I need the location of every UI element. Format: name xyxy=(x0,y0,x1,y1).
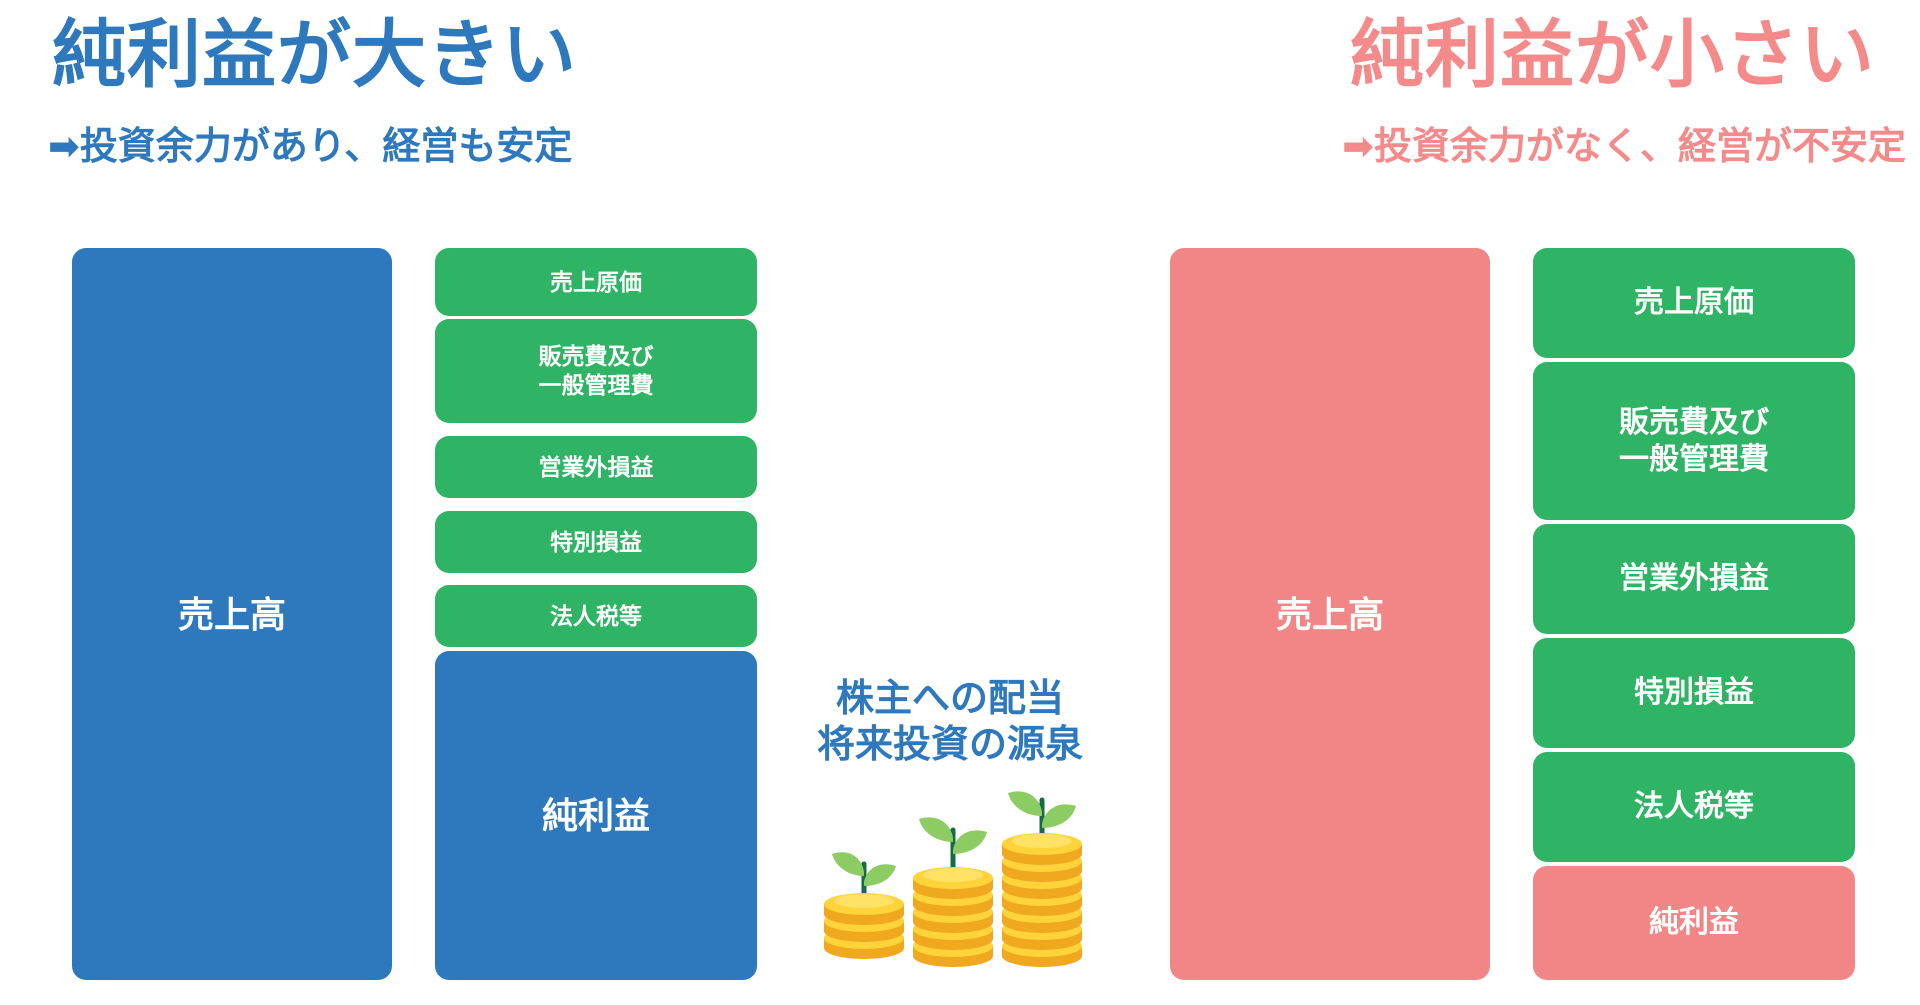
left-bar-extraordinary-label: 特別損益 xyxy=(550,528,642,557)
right-bar-corporate-tax-label: 法人税等 xyxy=(1634,788,1754,826)
right-bar-cost-of-sales: 売上原価 xyxy=(1533,248,1855,358)
left-bar-non-operating: 営業外損益 xyxy=(435,436,757,498)
right-bar-extraordinary-label: 特別損益 xyxy=(1634,674,1754,712)
left-panel-subtitle: ➡投資余力があり、経営も安定 xyxy=(48,128,572,166)
right-bar-corporate-tax: 法人税等 xyxy=(1533,752,1855,862)
right-panel-title: 純利益が小さい xyxy=(1350,18,1875,92)
left-panel-title: 純利益が大きい xyxy=(52,18,577,92)
right-bar-non-operating-label: 営業外損益 xyxy=(1619,560,1769,598)
left-bar-corporate-tax: 法人税等 xyxy=(435,585,757,647)
left-bar-net-profit: 純利益 xyxy=(435,651,757,980)
right-bar-extraordinary: 特別損益 xyxy=(1533,638,1855,748)
right-revenue-bar: 売上高 xyxy=(1170,248,1490,980)
right-revenue-label: 売上高 xyxy=(1276,592,1384,637)
right-bar-non-operating: 営業外損益 xyxy=(1533,524,1855,634)
right-bar-cost-of-sales-label: 売上原価 xyxy=(1634,284,1754,322)
left-bar-sga-label: 販売費及び一般管理費 xyxy=(539,342,654,400)
right-bar-sga: 販売費及び一般管理費 xyxy=(1533,362,1855,520)
left-bar-non-operating-label: 営業外損益 xyxy=(539,453,654,482)
panel-high-profit: 純利益が大きい ➡投資余力があり、経営も安定 売上高 売上原価 販売費及び一般管… xyxy=(0,0,960,1005)
left-revenue-label: 売上高 xyxy=(178,592,286,637)
right-bar-net-profit-label: 純利益 xyxy=(1649,904,1739,942)
coin-stack-small xyxy=(824,852,904,959)
left-bar-corporate-tax-label: 法人税等 xyxy=(550,602,642,631)
left-bar-cost-of-sales: 売上原価 xyxy=(435,248,757,316)
right-bar-net-profit: 純利益 xyxy=(1533,866,1855,980)
left-bar-sga: 販売費及び一般管理費 xyxy=(435,319,757,423)
left-bar-cost-of-sales-label: 売上原価 xyxy=(550,268,642,297)
left-revenue-bar: 売上高 xyxy=(72,248,392,980)
right-bar-sga-label: 販売費及び一般管理費 xyxy=(1619,404,1769,479)
left-bar-net-profit-label: 純利益 xyxy=(542,793,650,838)
right-panel-subtitle: ➡投資余力がなく、経営が不安定 xyxy=(1342,128,1906,166)
left-bar-extraordinary: 特別損益 xyxy=(435,511,757,573)
